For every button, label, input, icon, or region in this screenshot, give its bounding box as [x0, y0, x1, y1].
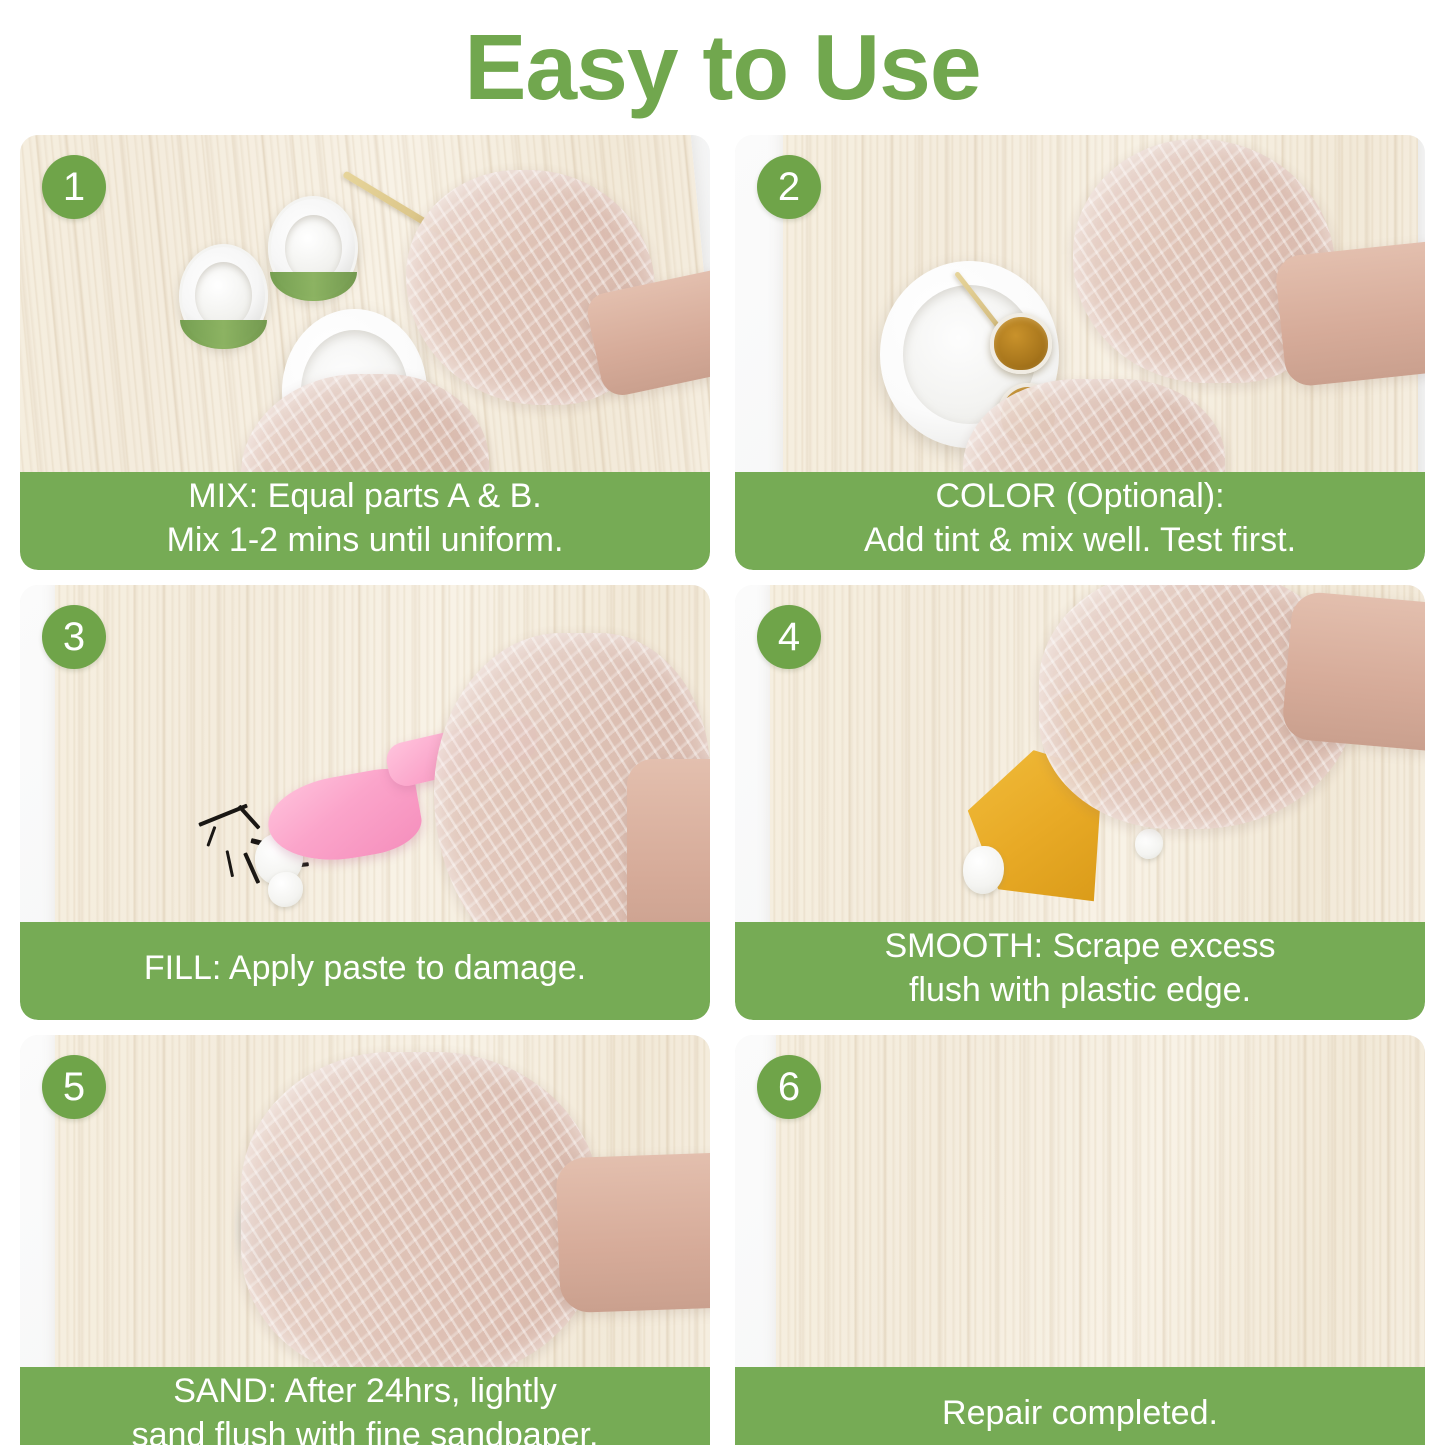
caption-line-1: COLOR (Optional):: [935, 475, 1224, 519]
step-badge-2: 2: [757, 155, 821, 219]
title-bar: Easy to Use: [0, 0, 1445, 135]
step-panel-5: 5 SAND: After 24hrs, lightly sand flush …: [20, 1035, 710, 1445]
step-panel-3: 3 FILL: Apply paste to damage.: [20, 585, 710, 1020]
caption-line-1: SAND: After 24hrs, lightly: [173, 1370, 557, 1414]
paste-blob-small: [268, 872, 303, 907]
caption-line-2: Add tint & mix well. Test first.: [864, 519, 1296, 563]
step-panel-6: 6 Repair completed.: [735, 1035, 1425, 1445]
forearm: [1281, 591, 1425, 754]
paste-jar-a: [179, 244, 269, 348]
step-caption-3: FILL: Apply paste to damage.: [20, 922, 710, 1020]
step-caption-2: COLOR (Optional): Add tint & mix well. T…: [735, 472, 1425, 570]
steps-grid: 1 MIX: Equal parts A & B. Mix 1-2 mins u…: [0, 135, 1445, 1445]
caption-line-2: Mix 1-2 mins until uniform.: [167, 519, 564, 563]
gloved-hand: [241, 1052, 600, 1379]
tint-pot-upper: [990, 313, 1052, 374]
caption-line-1: Repair completed.: [942, 1392, 1218, 1436]
step-caption-1: MIX: Equal parts A & B. Mix 1-2 mins unt…: [20, 472, 710, 570]
paste-fleck: [1135, 829, 1163, 859]
step-badge-4: 4: [757, 605, 821, 669]
forearm-right: [1274, 239, 1425, 388]
step-caption-6: Repair completed.: [735, 1367, 1425, 1445]
step-badge-5: 5: [42, 1055, 106, 1119]
caption-line-2: sand flush with fine sandpaper.: [132, 1414, 599, 1445]
excess-paste-blob: [963, 846, 1004, 894]
step-badge-1: 1: [42, 155, 106, 219]
step-caption-5: SAND: After 24hrs, lightly sand flush wi…: [20, 1367, 710, 1445]
caption-line-2: flush with plastic edge.: [909, 969, 1251, 1013]
step-badge-6: 6: [757, 1055, 821, 1119]
caption-line-1: FILL: Apply paste to damage.: [144, 947, 586, 991]
step-panel-1: 1 MIX: Equal parts A & B. Mix 1-2 mins u…: [20, 135, 710, 570]
step-badge-3: 3: [42, 605, 106, 669]
step-panel-4: 4 SMOOTH: Scrape excess flush with plast…: [735, 585, 1425, 1020]
forearm: [556, 1152, 710, 1313]
step-caption-4: SMOOTH: Scrape excess flush with plastic…: [735, 922, 1425, 1020]
infographic-page: Easy to Use 1: [0, 0, 1445, 1445]
step-panel-2: 2 COLOR (Optional): Add tint & mix well.…: [735, 135, 1425, 570]
caption-line-1: SMOOTH: Scrape excess: [884, 925, 1275, 969]
page-title: Easy to Use: [464, 21, 980, 114]
caption-line-1: MIX: Equal parts A & B.: [188, 475, 541, 519]
paste-jar-b: [268, 196, 358, 300]
